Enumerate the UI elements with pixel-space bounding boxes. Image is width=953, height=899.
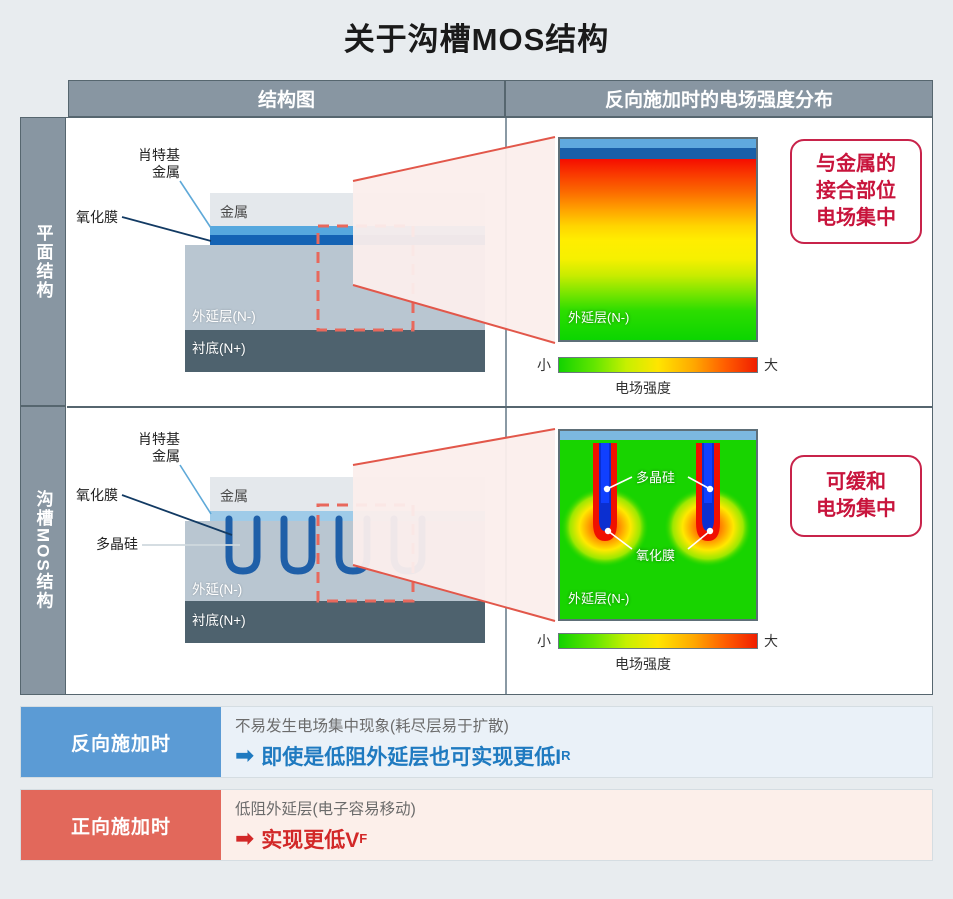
trench-poly-leader-label: 多晶硅 — [50, 536, 138, 553]
arrow-right-icon: ➡ — [235, 744, 254, 767]
conclusion-reverse-tag: 反向施加时 — [21, 707, 221, 777]
planar-oxide-leader-line — [122, 217, 211, 241]
conclusion-reverse-main-text: 即使是低阻外延层也可实现更低I — [261, 741, 561, 771]
planar-field-epi-label: 外延层(N-) — [568, 307, 629, 326]
conclusion-forward-body: 低阻外延层(电子容易移动) ➡ 实现更低VF — [221, 790, 932, 860]
trench-epi-label: 外延(N-) — [192, 578, 242, 598]
arrow-right-icon: ➡ — [235, 827, 254, 850]
planar-field-map: 外延层(N-) — [558, 137, 758, 342]
planar-colorbar-caption: 电场强度 — [615, 378, 671, 398]
trench-schottky-leader-line1: 肖特基 — [70, 431, 180, 448]
trench-schottky-leader-line2: 金属 — [70, 448, 180, 465]
trench-callout: 可缓和 电场集中 — [790, 455, 922, 537]
planar-field-oxide-strip — [560, 148, 756, 159]
planar-colorbar — [558, 357, 758, 373]
planar-schottky-leader-line — [180, 181, 211, 228]
row-label-planar-text: 平面结构 — [31, 224, 56, 300]
header-field-distribution: 反向施加时的电场强度分布 — [505, 80, 933, 117]
conclusion-forward-bias: 正向施加时 低阻外延层(电子容易移动) ➡ 实现更低VF — [20, 789, 933, 861]
conclusion-forward-tag: 正向施加时 — [21, 790, 221, 860]
planar-field-metal-strip — [560, 139, 756, 148]
trench-field-structure-right — [696, 443, 720, 541]
planar-colorbar-low: 小 — [537, 355, 551, 375]
conclusion-reverse-body: 不易发生电场集中现象(耗尽层易于扩散) ➡ 即使是低阻外延层也可实现更低IR — [221, 707, 932, 777]
page-title: 关于沟槽MOS结构 — [0, 14, 953, 59]
conclusion-forward-sub: 低阻外延层(电子容易移动) — [235, 797, 932, 819]
conclusion-forward-main-sub: F — [359, 831, 367, 846]
conclusion-forward-main: ➡ 实现更低VF — [235, 824, 932, 854]
conclusion-forward-main-text: 实现更低V — [261, 824, 359, 854]
trench-field-map: 多晶硅 氧化膜 外延层(N-) — [558, 429, 758, 621]
planar-callout-line2: 接合部位 — [816, 178, 896, 205]
trench-oxide-leader-line — [122, 495, 232, 535]
trench-schottky-leader-line — [180, 465, 211, 514]
planar-callout: 与金属的 接合部位 电场集中 — [790, 139, 922, 244]
planar-callout-line3: 电场集中 — [816, 205, 896, 232]
planar-field-panel: 外延层(N-) 小 大 电场强度 与金属的 接合部位 电场集中 — [515, 125, 925, 400]
trench-colorbar-caption: 电场强度 — [615, 654, 671, 674]
trench-callout-line2: 电场集中 — [816, 496, 896, 523]
trench-field-poly-label: 多晶硅 — [636, 467, 675, 486]
trench-field-structure-left — [593, 443, 617, 541]
planar-callout-line1: 与金属的 — [816, 151, 896, 178]
conclusion-reverse-bias: 反向施加时 不易发生电场集中现象(耗尽层易于扩散) ➡ 即使是低阻外延层也可实现… — [20, 706, 933, 778]
row-label-planar: 平面结构 — [20, 117, 66, 406]
comparison-table: 结构图 反向施加时的电场强度分布 平面结构 沟槽MOS结构 金属 外延层(N-)… — [20, 80, 933, 695]
trench-colorbar-high: 大 — [764, 631, 778, 651]
planar-colorbar-high: 大 — [764, 355, 778, 375]
trench-schottky-leader-label: 肖特基 金属 — [70, 431, 180, 465]
trench-u-2 — [284, 519, 312, 571]
row-divider — [67, 406, 933, 408]
conclusion-reverse-main-sub: R — [561, 748, 570, 763]
trench-colorbar-low: 小 — [537, 631, 551, 651]
trench-colorbar — [558, 633, 758, 649]
trench-oxide-leader-label: 氧化膜 — [30, 487, 118, 504]
trench-metal-label: 金属 — [220, 486, 248, 506]
conclusion-reverse-main: ➡ 即使是低阻外延层也可实现更低IR — [235, 741, 932, 771]
trench-field-panel: 多晶硅 氧化膜 外延层(N-) 小 大 电场强度 可缓和 电场集中 — [515, 415, 925, 690]
trench-callout-line1: 可缓和 — [816, 469, 896, 496]
trench-field-oxide-label: 氧化膜 — [636, 545, 675, 564]
conclusion-reverse-sub: 不易发生电场集中现象(耗尽层易于扩散) — [235, 714, 932, 736]
trench-substrate-label: 衬底(N+) — [192, 609, 246, 629]
table-header-row: 结构图 反向施加时的电场强度分布 — [68, 80, 933, 117]
header-structure-diagram: 结构图 — [68, 80, 505, 117]
trench-field-epi-label: 外延层(N-) — [568, 588, 629, 607]
